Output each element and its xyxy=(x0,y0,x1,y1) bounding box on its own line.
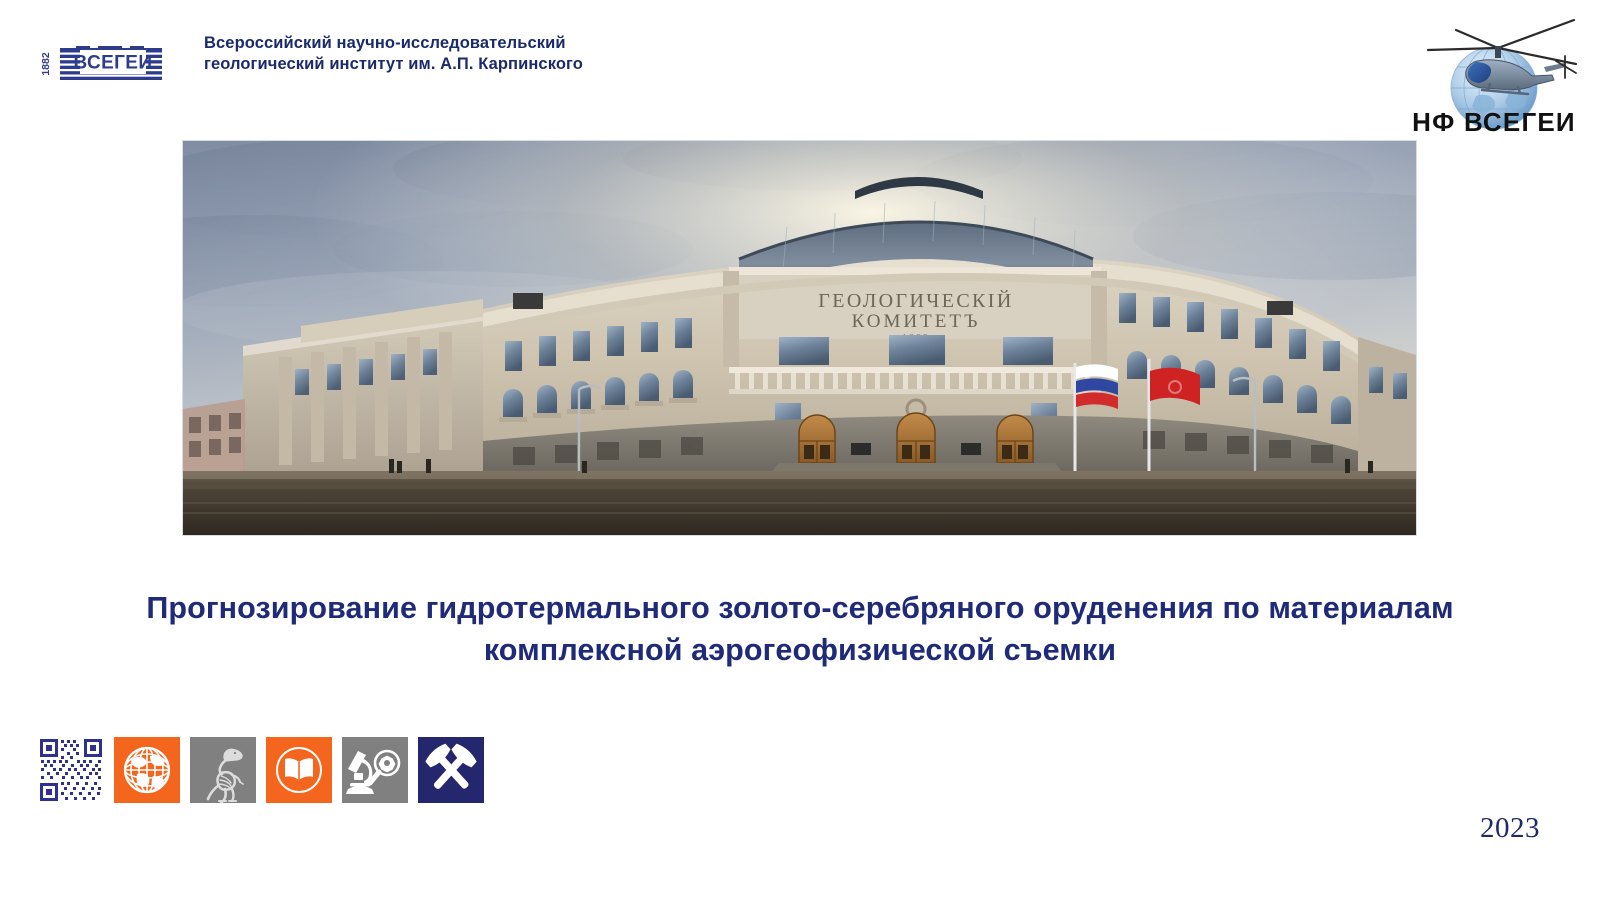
icon-strip xyxy=(38,737,484,803)
open-book-icon[interactable] xyxy=(266,737,332,803)
svg-text:1882: 1882 xyxy=(40,52,52,76)
globe-icon[interactable] xyxy=(114,737,180,803)
vsegei-logo-block: ВСЕГЕИ 1882 Всероссийский научно-исследо… xyxy=(38,28,583,84)
title-slide: ВСЕГЕИ 1882 Всероссийский научно-исследо… xyxy=(0,0,1600,900)
building-inscription-line1: ГЕОЛОГИЧЕСКIЙ xyxy=(818,289,1013,312)
page-title: Прогнозирование гидротермального золото-… xyxy=(105,588,1495,671)
institute-name: Всероссийский научно-исследовательский г… xyxy=(204,33,583,76)
building-inscription-line2: КОМИТЕТЪ xyxy=(852,311,981,332)
nf-vsegei-wordmark: НФ ВСЕГЕИ xyxy=(1412,107,1576,137)
slide-header: ВСЕГЕИ 1882 Всероссийский научно-исследо… xyxy=(0,0,1600,118)
vsegei-building-photo: ГЕОЛОГИЧЕСКIЙ КОМИТЕТЪ 1882 xyxy=(183,141,1416,535)
dinosaur-icon[interactable] xyxy=(190,737,256,803)
svg-text:ВСЕГЕИ: ВСЕГЕИ xyxy=(74,53,153,74)
hammers-icon[interactable] xyxy=(418,737,484,803)
microscope-icon[interactable] xyxy=(342,737,408,803)
vsegei-emblem-icon: ВСЕГЕИ 1882 xyxy=(38,28,190,84)
nf-vsegei-logo-block: НФ ВСЕГЕИ xyxy=(1406,4,1582,154)
qr-code-icon[interactable] xyxy=(38,737,104,803)
year-label: 2023 xyxy=(1480,812,1540,845)
